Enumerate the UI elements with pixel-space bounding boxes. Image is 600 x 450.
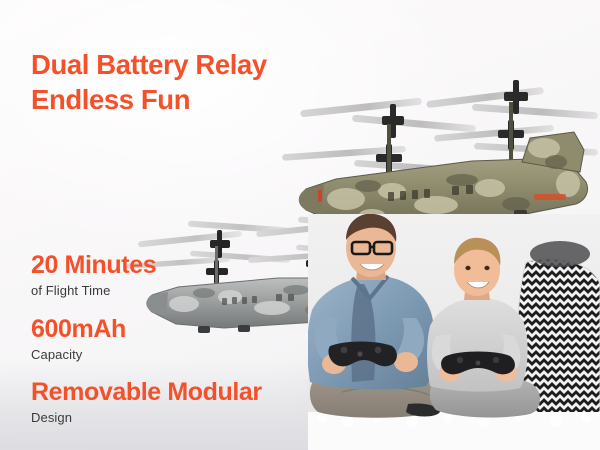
feature-title: 20 Minutes xyxy=(31,252,262,279)
feature-list: 20 Minutes of Flight Time 600mAh Capacit… xyxy=(31,252,262,428)
feature-subtitle: Design xyxy=(31,408,262,428)
feature-item-flight-time: 20 Minutes of Flight Time xyxy=(31,252,262,301)
father-and-son-playing-photo xyxy=(308,214,600,450)
headline: Dual Battery Relay Endless Fun xyxy=(31,48,267,117)
feature-item-modular-design: Removable Modular Design xyxy=(31,379,262,428)
product-ad-banner: Dual Battery Relay Endless Fun 20 Minute… xyxy=(0,0,600,450)
feature-subtitle: Capacity xyxy=(31,345,262,365)
feature-item-capacity: 600mAh Capacity xyxy=(31,316,262,365)
feature-title: Removable Modular xyxy=(31,379,262,406)
feature-subtitle: of Flight Time xyxy=(31,281,262,301)
feature-title: 600mAh xyxy=(31,316,262,343)
